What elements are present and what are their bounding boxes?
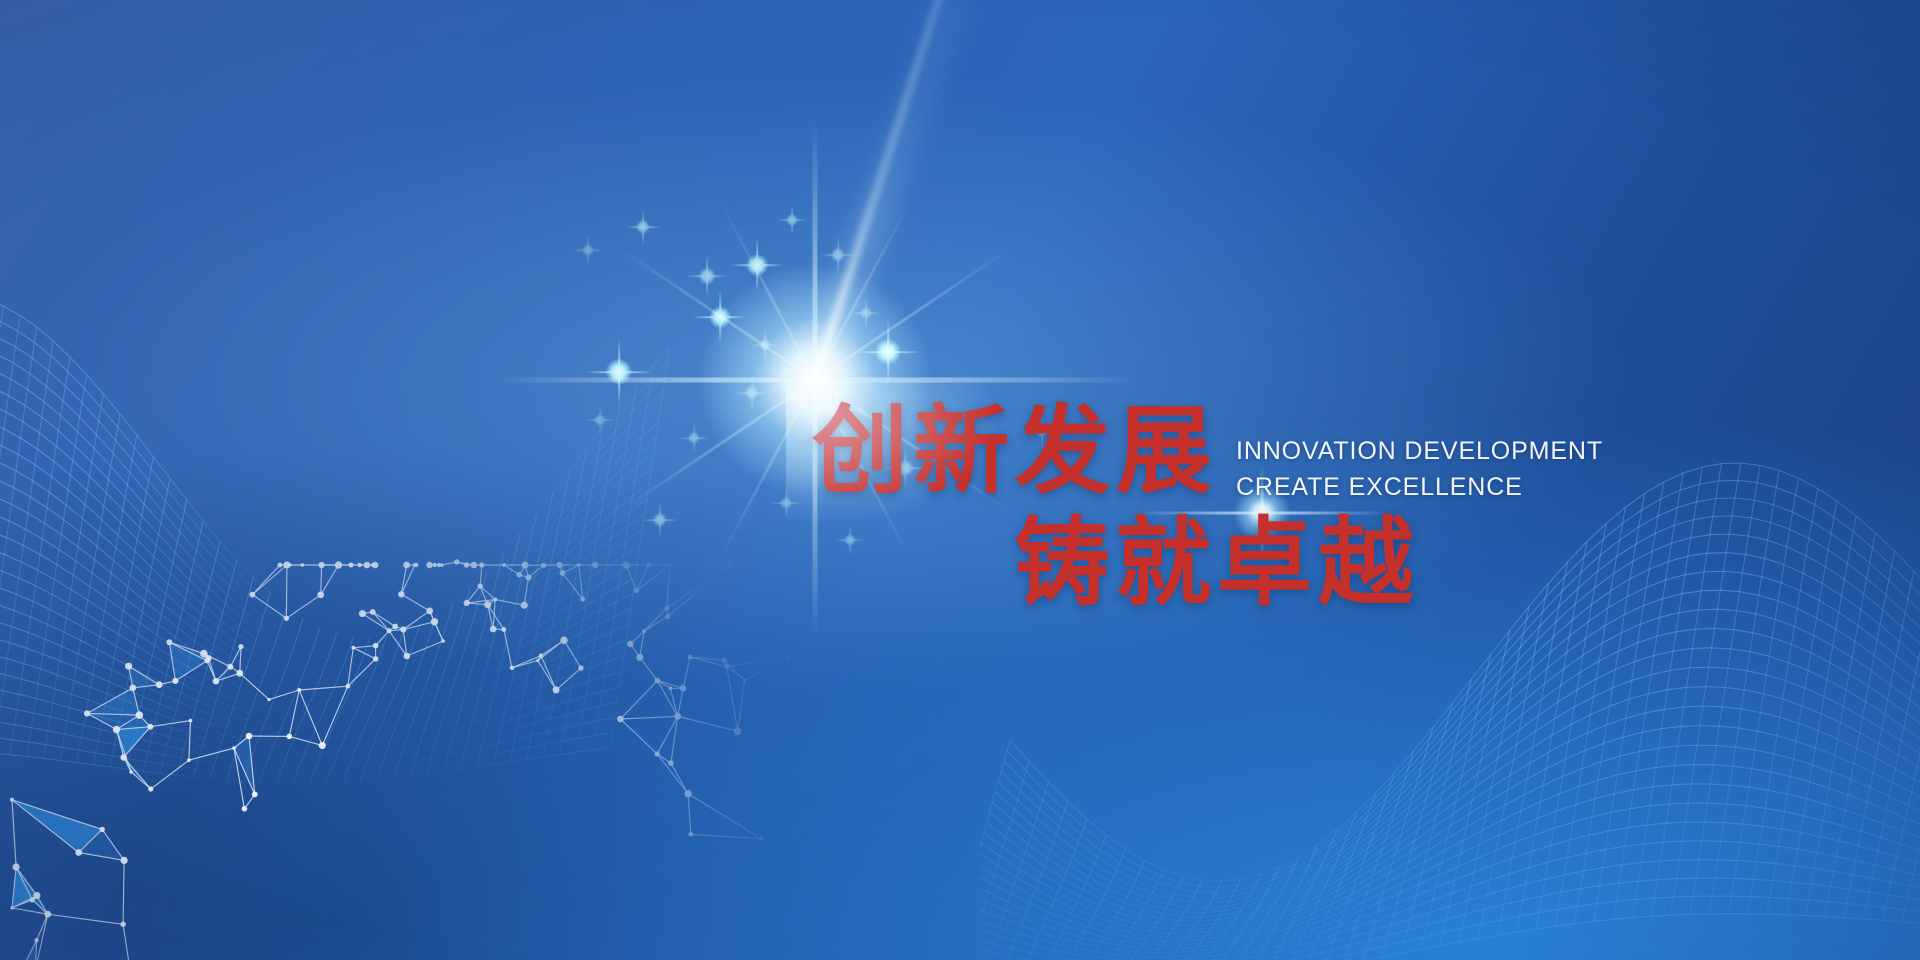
subtitle-english-line-1: INNOVATION DEVELOPMENT [1236,437,1603,466]
headline-chinese-line-1: 创新发展 [812,404,1217,500]
headline-block: 创新发展 铸就卓越 INNOVATION DEVELOPMENT CREATE … [0,0,1920,960]
banner-canvas: 创新发展 铸就卓越 INNOVATION DEVELOPMENT CREATE … [0,0,1920,960]
subtitle-english-line-2: CREATE EXCELLENCE [1236,473,1523,502]
headline-chinese-line-2: 铸就卓越 [1014,516,1419,612]
